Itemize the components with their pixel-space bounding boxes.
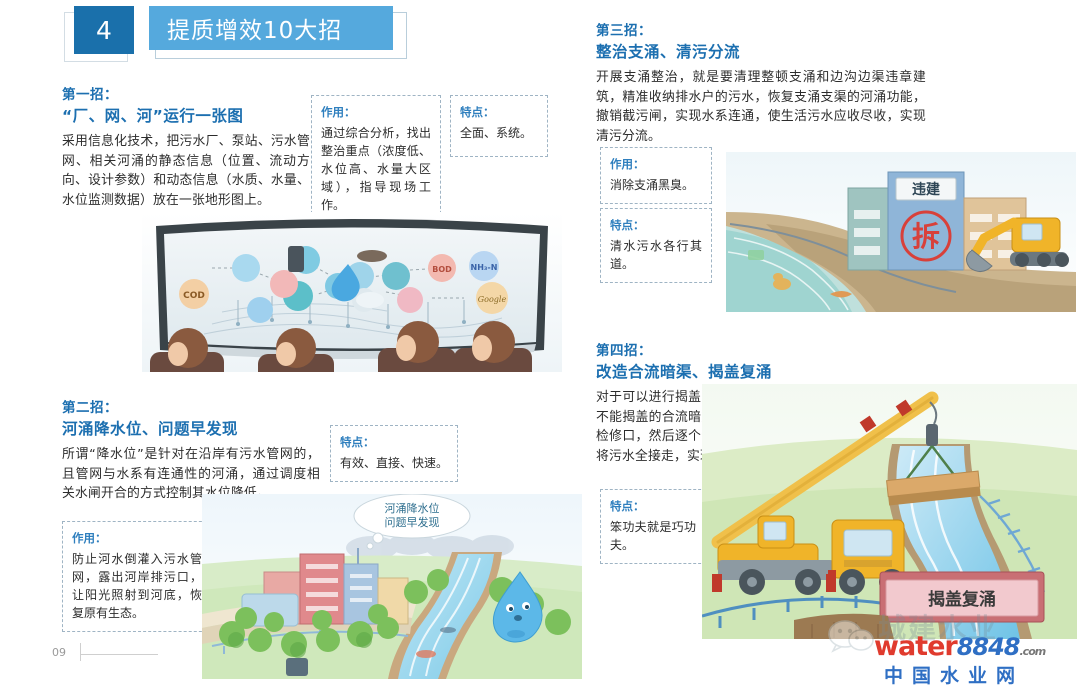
- section-3: 第三招： 整治支涌、清污分流 开展支涌整治，就是要清理整顿支涌和边沟边渠违章建筑…: [596, 22, 1066, 146]
- illustration-demolition: 违建 拆: [726, 152, 1076, 312]
- section-3-text: 第三招： 整治支涌、清污分流 开展支涌整治，就是要清理整顿支涌和边沟边渠违章建筑…: [596, 22, 926, 146]
- note-text: 防止河水倒灌入污水管网，露出河岸排污口，让阳光照射到河底，恢复原有生态。: [72, 550, 202, 622]
- section-1-title: “厂、网、河”运行一张图: [62, 105, 310, 127]
- section-1-kicker: 第一招：: [62, 86, 310, 105]
- section-2-title: 河涌降水位、问题早发现: [62, 418, 320, 440]
- section-2-kicker: 第二招：: [62, 399, 320, 418]
- section-3-note-feature: 特点： 清水污水各行其道。: [600, 208, 712, 283]
- watermark-brand: water8848.com: [874, 631, 1045, 662]
- svg-text:河涌降水位: 河涌降水位: [385, 501, 440, 515]
- svg-text:问题早发现: 问题早发现: [385, 515, 440, 529]
- section-3-body: 开展支涌整治，就是要清理整顿支涌和边沟边渠违章建筑，精准收纳排水户的污水，恢复支…: [596, 68, 926, 146]
- note-label: 特点：: [340, 434, 448, 450]
- watermark-brand-domain: .com: [1020, 645, 1046, 658]
- note-text: 清水污水各行其道。: [610, 237, 702, 273]
- page-header: 4 提质增效10大招: [70, 6, 407, 58]
- header-number: 4: [74, 6, 134, 54]
- section-1: 第一招： “厂、网、河”运行一张图 采用信息化技术，把污水厂、泵站、污水管网、相…: [62, 86, 562, 210]
- section-3-title: 整治支涌、清污分流: [596, 41, 926, 63]
- illustration-crane-uncovering: 揭盖复涌: [702, 384, 1077, 639]
- page-number-tick: [80, 643, 81, 661]
- svg-text:违建: 违建: [912, 181, 940, 198]
- left-column: 第一招： “厂、网、河”运行一张图 采用信息化技术，把污水厂、泵站、污水管网、相…: [62, 86, 562, 210]
- note-text: 笨功夫就是巧功夫。: [610, 518, 696, 554]
- note-label: 特点：: [460, 104, 538, 120]
- section-2-note-feature: 特点： 有效、直接、快速。: [330, 425, 458, 482]
- section-1-body: 采用信息化技术，把污水厂、泵站、污水管网、相关河涌的静态信息（位置、流动方向、设…: [62, 132, 310, 210]
- section-4-note-feature: 特点： 笨功夫就是巧功夫。: [600, 489, 706, 564]
- illustration-city-river: 河涌降水位 问题早发现: [202, 494, 582, 679]
- note-label: 作用：: [610, 156, 702, 172]
- svg-text:NH₃-N: NH₃-N: [471, 263, 498, 272]
- section-4: 第四招： 改造合流暗渠、揭盖复涌 对于可以进行揭盖的地方尽可能揭盖复涌，不能揭盖…: [596, 342, 1066, 466]
- section-4-title: 改造合流暗渠、揭盖复涌: [596, 361, 846, 383]
- right-column: 第三招： 整治支涌、清污分流 开展支涌整治，就是要清理整顿支涌和边沟边渠违章建筑…: [596, 22, 1066, 146]
- section-1-note-effect: 作用： 通过综合分析，找出整治重点（浓度低、水位高、水量大区域），指导现场工作。: [311, 95, 441, 224]
- note-text: 消除支涌黑臭。: [610, 176, 702, 194]
- illustration-control-room: COD BOD NH₃-N: [142, 212, 562, 372]
- section-3-note-effect: 作用： 消除支涌黑臭。: [600, 147, 712, 204]
- section-2-text: 第二招： 河涌降水位、问题早发现 所谓“降水位”是针对在沿岸有污水管网的，且管网…: [62, 399, 320, 504]
- svg-text:COD: COD: [183, 291, 205, 301]
- watermark-brand-water: water: [874, 631, 957, 662]
- section-4-kicker: 第四招：: [596, 342, 846, 361]
- watermark: 城建水业 water8848.com 中国水业网: [822, 605, 1072, 683]
- header-number-group: 4: [70, 6, 136, 58]
- page-number-rule: [80, 654, 158, 655]
- note-label: 作用：: [321, 104, 431, 120]
- section-1-text: 第一招： “厂、网、河”运行一张图 采用信息化技术，把污水厂、泵站、污水管网、相…: [62, 86, 310, 210]
- note-text: 有效、直接、快速。: [340, 454, 448, 472]
- watermark-brand-cn: 中国水业网: [884, 661, 1024, 688]
- note-label: 作用：: [72, 530, 202, 546]
- note-text: 全面、系统。: [460, 124, 538, 142]
- note-label: 特点：: [610, 498, 696, 514]
- wechat-icon: [828, 619, 874, 653]
- section-1-note-feature: 特点： 全面、系统。: [450, 95, 548, 157]
- note-text: 通过综合分析，找出整治重点（浓度低、水位高、水量大区域），指导现场工作。: [321, 124, 431, 214]
- section-3-kicker: 第三招：: [596, 22, 926, 41]
- svg-text:BOD: BOD: [432, 265, 452, 274]
- page-number: 09: [52, 646, 66, 659]
- note-label: 特点：: [610, 217, 702, 233]
- svg-text:拆: 拆: [912, 220, 940, 253]
- infographic-page: 4 提质增效10大招 第一招： “厂、网、河”运行一张图 采用信息化技术，把污水…: [0, 0, 1080, 687]
- header-title-group: 提质增效10大招: [149, 6, 407, 58]
- page-title: 提质增效10大招: [149, 6, 393, 50]
- section-2-note-effect: 作用： 防止河水倒灌入污水管网，露出河岸排污口，让阳光照射到河底，恢复原有生态。: [62, 521, 212, 632]
- watermark-brand-number: 8848: [957, 633, 1020, 661]
- section-2: 第二招： 河涌降水位、问题早发现 所谓“降水位”是针对在沿岸有污水管网的，且管网…: [62, 399, 582, 504]
- svg-text:Google: Google: [478, 295, 507, 304]
